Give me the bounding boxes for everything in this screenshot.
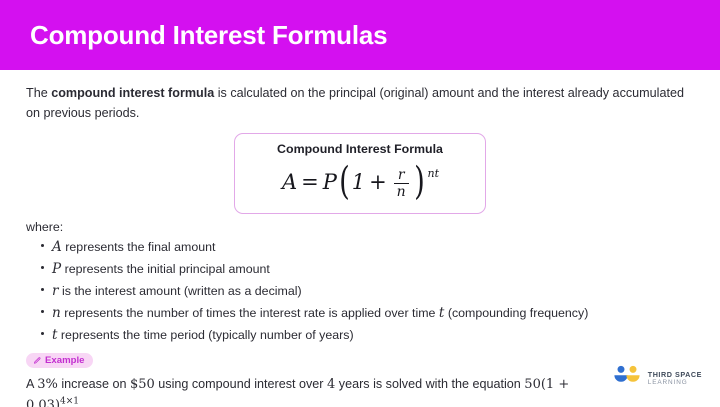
logo-mark-icon	[612, 364, 642, 393]
equation-fraction-numerator: r	[395, 168, 408, 183]
definition-symbol: r	[52, 283, 59, 299]
list-item: A represents the final amount	[40, 236, 694, 258]
equation-one: 1	[352, 172, 365, 193]
definition-text: represents the time period (typically nu…	[61, 328, 354, 342]
intro-text-before: The	[26, 86, 51, 100]
list-item: r is the interest amount (written as a d…	[40, 280, 694, 302]
definitions-list: A represents the final amount P represen…	[26, 236, 694, 346]
example-equation-exponent: 4×1	[60, 397, 79, 407]
example-amount: $50	[130, 377, 155, 392]
logo-line-2: LEARNING	[648, 379, 702, 386]
definition-symbol: A	[52, 239, 62, 255]
slide-content: The compound interest formula is calcula…	[0, 70, 720, 407]
intro-text-bold: compound interest formula	[51, 86, 214, 100]
example-percent: 3%	[37, 377, 58, 392]
equation-plus: +	[369, 172, 387, 193]
example-text-a: A	[26, 377, 37, 391]
logo-wordmark: THIRD SPACE LEARNING	[648, 371, 702, 386]
definition-symbol-secondary: t	[439, 305, 444, 321]
formula-card-wrapper: Compound Interest Formula A = P ( 1 + r …	[26, 133, 694, 214]
formula-card-title: Compound Interest Formula	[245, 142, 475, 156]
formula-card: Compound Interest Formula A = P ( 1 + r …	[234, 133, 486, 214]
page-header-banner: Compound Interest Formulas	[0, 0, 720, 70]
compound-interest-equation: A = P ( 1 + r n ) nt	[245, 161, 475, 203]
equation-principal: P	[323, 172, 337, 193]
example-badge-label: Example	[45, 355, 84, 366]
intro-paragraph: The compound interest formula is calcula…	[26, 84, 694, 123]
example-period: .	[79, 398, 83, 407]
definition-symbol: P	[52, 261, 61, 277]
equation-exponent: nt	[428, 168, 440, 179]
equation-fraction: r n	[394, 168, 409, 199]
definition-text: represents the final amount	[65, 240, 215, 254]
definition-text-secondary: (compounding frequency)	[448, 306, 589, 320]
pencil-icon	[33, 357, 41, 365]
definition-symbol: n	[52, 305, 61, 321]
equation-fraction-denominator: n	[394, 183, 409, 199]
example-text-b: increase on	[58, 377, 130, 391]
example-badge: Example	[26, 353, 93, 368]
equation-lhs: A	[282, 172, 297, 193]
example-paragraph: A 3% increase on $50 using compound inte…	[26, 374, 586, 407]
list-item: P represents the initial principal amoun…	[40, 258, 694, 280]
definition-text: represents the number of times the inter…	[64, 306, 435, 320]
example-text-d: years is solved with the equation	[335, 377, 524, 391]
equation-open-paren: (	[339, 166, 350, 197]
third-space-learning-logo: THIRD SPACE LEARNING	[612, 364, 702, 393]
definition-text: is the interest amount (written as a dec…	[62, 284, 302, 298]
logo-line-1: THIRD SPACE	[648, 371, 702, 379]
equation-close-paren: )	[414, 166, 425, 197]
list-item: t represents the time period (typically …	[40, 324, 694, 346]
equation-equals: =	[301, 172, 319, 193]
page-title: Compound Interest Formulas	[30, 22, 387, 48]
definition-text: represents the initial principal amount	[65, 262, 270, 276]
list-item: n represents the number of times the int…	[40, 302, 694, 324]
definition-symbol: t	[52, 327, 57, 343]
where-label: where:	[26, 220, 694, 234]
example-text-c: using compound interest over	[155, 377, 327, 391]
